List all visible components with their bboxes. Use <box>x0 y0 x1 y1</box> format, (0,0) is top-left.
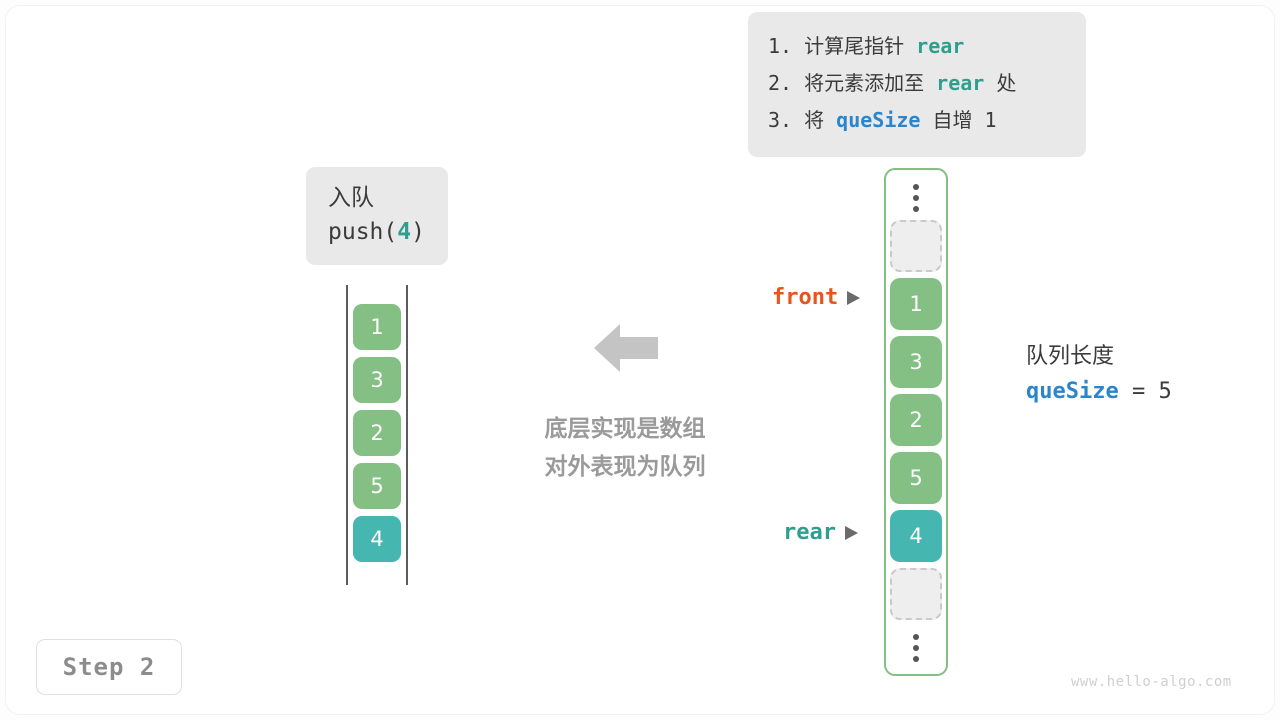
instruction-line-3-prefix: 3. 将 <box>768 108 836 132</box>
step-badge-label: Step 2 <box>63 653 156 681</box>
diagram-caption: 底层实现是数组 对外表现为队列 <box>508 410 742 486</box>
quesize-info: 队列长度 queSize = 5 <box>1026 340 1172 410</box>
operation-call-argument: 4 <box>397 219 411 245</box>
quesize-variable-name: queSize <box>1026 379 1119 404</box>
instruction-line-2-code: rear <box>936 71 984 95</box>
instruction-line-3: 3. 将 queSize 自增 1 <box>768 102 1066 139</box>
diagram-canvas: 1. 计算尾指针 rear 2. 将元素添加至 rear 处 3. 将 queS… <box>0 0 1280 720</box>
queue-cell: 3 <box>353 357 401 403</box>
dot <box>913 645 919 651</box>
array-cell-empty <box>890 220 942 272</box>
dot <box>913 206 919 212</box>
instruction-line-2-prefix: 2. 将元素添加至 <box>768 71 936 95</box>
queue-cell: 5 <box>353 463 401 509</box>
queue-logical-view: 1 3 2 5 4 <box>340 285 416 585</box>
quesize-value-line: queSize = 5 <box>1026 374 1172 410</box>
array-underlying-view: 1 3 2 5 4 <box>884 168 948 676</box>
instruction-line-3-suffix: 自增 1 <box>920 108 996 132</box>
instruction-box: 1. 计算尾指针 rear 2. 将元素添加至 rear 处 3. 将 queS… <box>748 12 1086 157</box>
instruction-line-1-prefix: 1. 计算尾指针 <box>768 34 916 58</box>
array-cell: 5 <box>890 452 942 504</box>
dot <box>913 634 919 640</box>
dot <box>913 195 919 201</box>
arrow-right-icon <box>845 526 858 540</box>
array-cell-new: 4 <box>890 510 942 562</box>
rear-pointer-label: rear <box>783 520 858 545</box>
front-pointer-label: front <box>772 285 860 310</box>
rear-pointer-text: rear <box>783 520 836 545</box>
vertical-ellipsis-icon-bottom <box>890 626 942 670</box>
arrow-right-icon <box>847 291 860 305</box>
step-badge: Step 2 <box>36 639 182 695</box>
front-pointer-text: front <box>772 285 838 310</box>
queue-rail-right <box>406 285 408 585</box>
vertical-ellipsis-icon-top <box>890 176 942 220</box>
queue-rail-left <box>346 285 348 585</box>
operation-box: 入队 push(4) <box>306 167 448 265</box>
array-cell: 1 <box>890 278 942 330</box>
array-cell: 3 <box>890 336 942 388</box>
left-arrow-icon <box>594 320 658 376</box>
dot <box>913 656 919 662</box>
operation-call-suffix: ) <box>411 219 425 245</box>
watermark: www.hello-algo.com <box>1071 674 1232 690</box>
array-cell-empty <box>890 568 942 620</box>
array-cell: 2 <box>890 394 942 446</box>
queue-cell-new: 4 <box>353 516 401 562</box>
operation-call-prefix: push( <box>328 219 397 245</box>
instruction-line-1-code: rear <box>916 34 964 58</box>
instruction-line-1: 1. 计算尾指针 rear <box>768 28 1066 65</box>
quesize-equals-value: = 5 <box>1119 379 1172 404</box>
instruction-line-3-code: queSize <box>836 108 920 132</box>
queue-cell-list: 1 3 2 5 4 <box>353 304 401 569</box>
queue-cell: 2 <box>353 410 401 456</box>
quesize-title: 队列长度 <box>1026 340 1172 374</box>
instruction-line-2: 2. 将元素添加至 rear 处 <box>768 65 1066 102</box>
queue-cell: 1 <box>353 304 401 350</box>
operation-title: 入队 <box>328 181 430 215</box>
operation-call: push(4) <box>328 215 430 249</box>
array-cell-list: 1 3 2 5 4 <box>890 176 942 670</box>
instruction-line-2-suffix: 处 <box>984 71 1016 95</box>
dot <box>913 184 919 190</box>
